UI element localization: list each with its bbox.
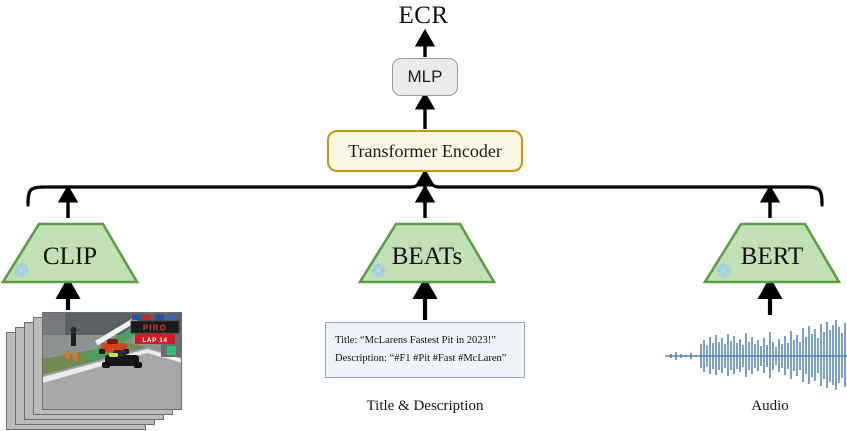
- snowflake-icon: [715, 262, 732, 279]
- audio-waveform: [665, 318, 847, 394]
- race-scene-illustration: PIRO LAP 14: [43, 313, 182, 410]
- encoder-bert: BERT: [702, 222, 842, 284]
- svg-text:PIRO: PIRO: [143, 324, 167, 333]
- snowflake-icon: [370, 262, 387, 279]
- text-input-box: Title: “McLarens Fastest Pit in 2023!” D…: [325, 322, 525, 378]
- encoder-clip: CLIP: [0, 222, 140, 284]
- encoder-beats: BEATs: [357, 222, 497, 284]
- mlp-block: MLP: [392, 58, 458, 96]
- svg-text:LAP 14: LAP 14: [142, 337, 167, 344]
- transformer-encoder-block: Transformer Encoder: [327, 130, 523, 172]
- text-title-line: Title: “McLarens Fastest Pit in 2023!”: [335, 332, 516, 350]
- video-frame-front: PIRO LAP 14: [42, 312, 182, 410]
- video-frame-stack: PIRO LAP 14: [6, 312, 196, 430]
- audio-caption: Audio: [670, 398, 847, 415]
- text-input-caption: Title & Description: [325, 398, 525, 415]
- architecture-diagram: ECR MLP Transformer Encoder: [0, 0, 847, 431]
- text-description-line: Description: “#F1 #Pit #Fast #McLaren”: [335, 350, 516, 368]
- snowflake-icon: [13, 262, 30, 279]
